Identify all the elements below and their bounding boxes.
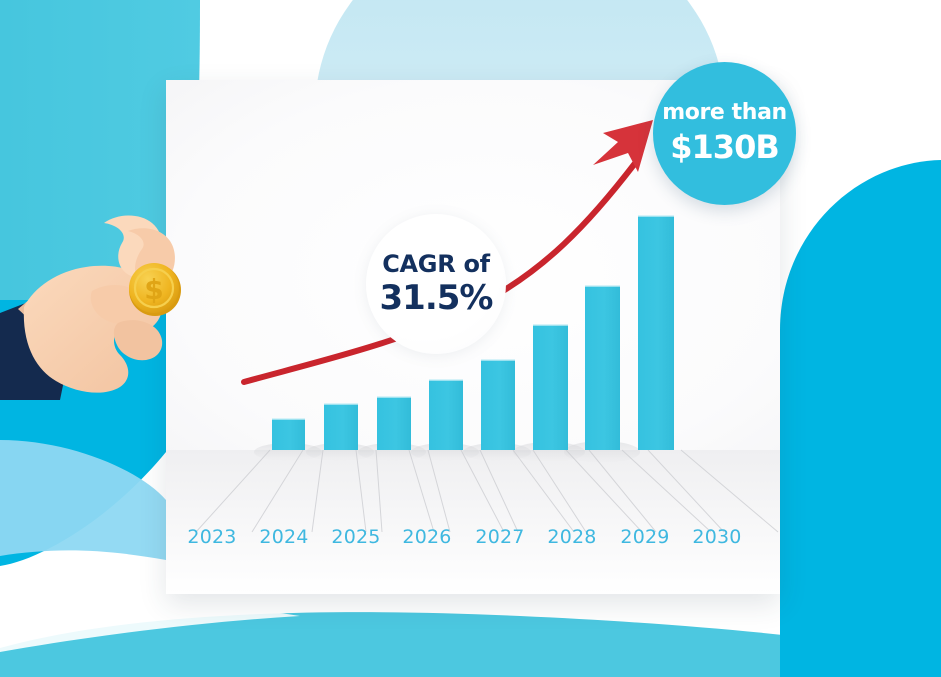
year-label-2025: 2025	[326, 526, 386, 548]
value-badge: more than $130B	[653, 62, 796, 205]
year-label-2028: 2028	[542, 526, 602, 548]
dollar-coin-icon: $	[129, 263, 181, 316]
cagr-badge: CAGR of 31.5%	[366, 214, 506, 354]
cagr-badge-value: 31.5%	[380, 281, 493, 317]
svg-text:$: $	[144, 273, 163, 306]
bar-2028	[533, 324, 568, 450]
trend-arrowhead	[593, 120, 653, 172]
bar-2029	[585, 285, 620, 450]
year-label-2027: 2027	[470, 526, 530, 548]
bar-2024	[324, 403, 358, 450]
bar-2026	[429, 379, 463, 450]
value-badge-value: $130B	[670, 131, 778, 165]
infographic-canvas: $	[0, 0, 941, 677]
hand-holding-coin-illustration: $	[0, 195, 195, 400]
year-label-2029: 2029	[615, 526, 675, 548]
right-cyan-fill	[780, 594, 941, 677]
hand-coin-svg: $	[0, 195, 195, 400]
year-label-2024: 2024	[254, 526, 314, 548]
cagr-badge-label: CAGR of	[382, 252, 490, 276]
bar-2025	[377, 396, 411, 450]
bar-2030	[638, 215, 674, 450]
bar-2027	[481, 359, 515, 450]
year-label-2026: 2026	[397, 526, 457, 548]
year-label-2023: 2023	[182, 526, 242, 548]
bar-2023	[272, 418, 305, 450]
value-badge-label: more than	[662, 102, 787, 124]
year-label-2030: 2030	[687, 526, 747, 548]
x-axis-year-labels: 2023 2024 2025 2026 2027 2028 2029 2030	[166, 526, 780, 568]
lower-finger	[114, 320, 162, 360]
